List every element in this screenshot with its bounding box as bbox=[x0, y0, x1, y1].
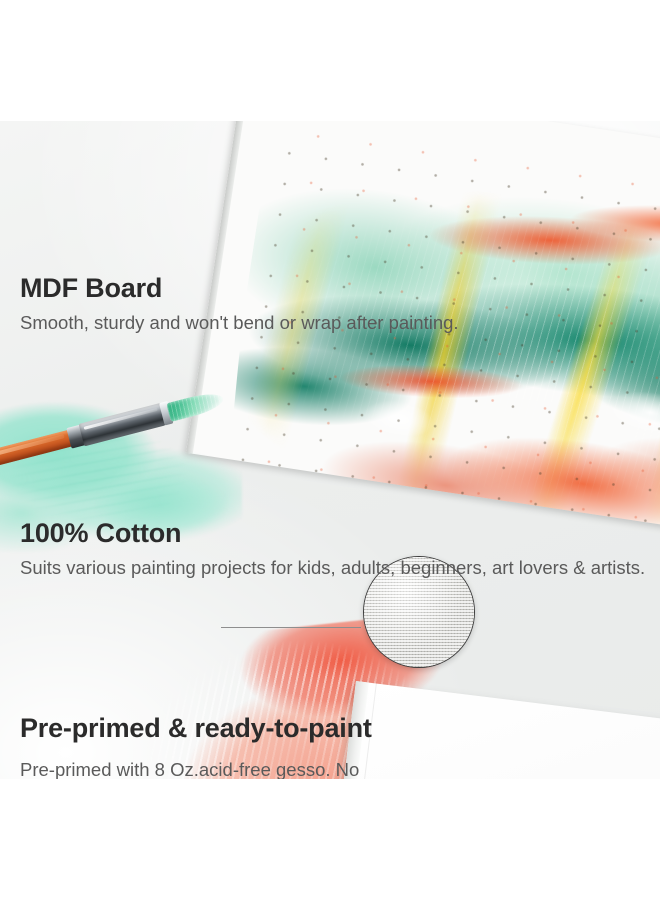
feature-pre-primed: Pre-primed & ready-to-paint Pre-primed w… bbox=[20, 712, 380, 779]
feature-heading: MDF Board bbox=[20, 273, 459, 304]
feature-heading: Pre-primed & ready-to-paint bbox=[20, 712, 380, 744]
feature-cotton: 100% Cotton Suits various painting proje… bbox=[20, 518, 645, 581]
product-photo-panel: MDF Board Smooth, sturdy and won't bend … bbox=[0, 121, 660, 779]
magnifier-leader-line bbox=[221, 627, 361, 628]
feature-heading: 100% Cotton bbox=[20, 518, 645, 549]
feature-body: Smooth, sturdy and won't bend or wrap af… bbox=[20, 311, 459, 336]
feature-body: Pre-primed with 8 Oz.acid-free gesso. No… bbox=[20, 758, 380, 779]
feature-mdf-board: MDF Board Smooth, sturdy and won't bend … bbox=[20, 273, 459, 336]
infographic-page: MDF Board Smooth, sturdy and won't bend … bbox=[0, 0, 660, 900]
feature-body: Suits various painting projects for kids… bbox=[20, 556, 645, 581]
